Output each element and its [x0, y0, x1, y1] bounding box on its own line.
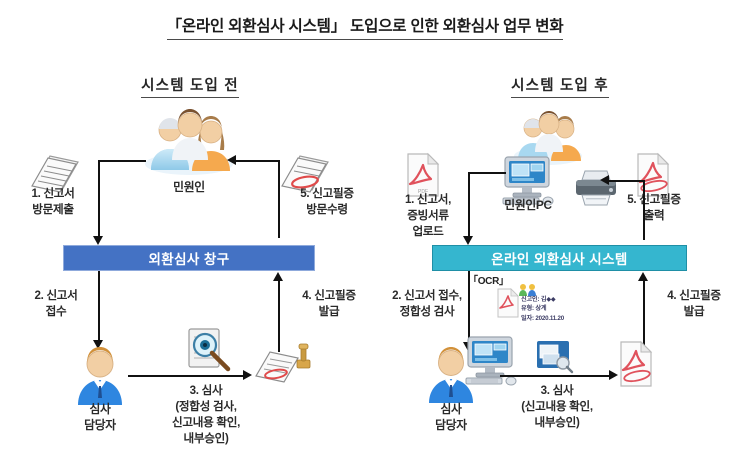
step-label-a2: 2. 신고서 접수, 정합성 검사 [371, 288, 483, 320]
step-label-b2: 2. 신고서 접수 [14, 288, 98, 320]
certificate-stamp-icon [252, 340, 314, 392]
section-heading-after-text: 시스템 도입 후 [511, 78, 609, 98]
pdf-stamped-icon [617, 340, 655, 388]
people-icon [143, 108, 235, 176]
person-officer-icon [72, 345, 128, 407]
step-label-b4: 4. 신고필증 발급 [283, 288, 375, 320]
connector-b3-h [128, 375, 244, 377]
step-label-a5: 5. 신고필증 출력 [608, 192, 700, 224]
ocr-label: 「OCR」 [468, 272, 509, 287]
banner-after-text: 온라인 외환심사 시스템 [491, 248, 628, 268]
arrow-a1 [463, 236, 473, 245]
magnifier-document-icon [183, 326, 237, 374]
step-label-a1: 1. 신고서, 증빙서류 업로드 [383, 192, 473, 240]
actor-label-reviewer-before: 심사 담당자 [66, 402, 134, 434]
connector-b1-h [98, 160, 146, 162]
step-label-b5: 5. 신고필증 방문수령 [281, 186, 373, 218]
connector-a5-v [643, 180, 645, 240]
actor-label-reviewer-after: 심사 담당자 [417, 402, 485, 434]
connector-a1-h [468, 172, 506, 174]
step-label-b3: 3. 심사 (정합성 검사, 신고내용 확인, 내부승인) [139, 383, 273, 447]
connector-a5-h [605, 180, 645, 182]
banner-before-text: 외환심사 창구 [148, 248, 229, 268]
connector-b5-v [278, 160, 280, 238]
connector-a3-h [500, 375, 610, 377]
page-title-text: 「온라인 외환심사 시스템」 도입으로 인한 외환심사 업무 변화 [167, 18, 564, 40]
step-label-a3: 3. 심사 (신고내용 확인, 내부승인) [493, 383, 621, 431]
banner-after: 온라인 외환심사 시스템 [432, 245, 687, 271]
arrow-b4 [273, 272, 283, 281]
section-heading-after: 시스템 도입 후 [465, 74, 655, 95]
connector-b2-v [98, 271, 100, 343]
actor-label-citizen-pc: 민원인PC [478, 198, 578, 214]
section-heading-before: 시스템 도입 전 [95, 74, 285, 95]
banner-before: 외환심사 창구 [63, 245, 315, 271]
ocr-pdf-icon [496, 288, 520, 318]
arrow-a5 [600, 175, 609, 185]
connector-b1-v [98, 160, 100, 238]
ocr-meta-date: 일자: 2020.11.20 [521, 314, 564, 323]
arrow-b1 [93, 236, 103, 245]
diagram-canvas: 「온라인 외환심사 시스템」 도입으로 인한 외환심사 업무 변화 시스템 도입… [0, 0, 730, 449]
section-heading-before-text: 시스템 도입 전 [141, 78, 239, 98]
step-label-b1: 1. 신고서 방문제출 [10, 186, 96, 218]
connector-b5-h [232, 160, 280, 162]
connector-a1-v [468, 172, 470, 238]
arrow-b5 [227, 155, 236, 165]
arrow-b3 [243, 370, 252, 380]
ocr-meta-declarant: 신고인: 김◆◆ [521, 295, 564, 304]
ocr-meta-type: 유형: 상계 [521, 304, 564, 313]
arrow-a4 [638, 272, 648, 281]
page-title: 「온라인 외환심사 시스템」 도입으로 인한 외환심사 업무 변화 [0, 14, 730, 36]
review-window-icon [536, 340, 574, 374]
actor-label-citizen: 민원인 [143, 180, 235, 196]
ocr-metadata: 신고인: 김◆◆ 유형: 상계 일자: 2020.11.20 [521, 295, 564, 323]
step-label-a4: 4. 신고필증 발급 [648, 288, 730, 320]
